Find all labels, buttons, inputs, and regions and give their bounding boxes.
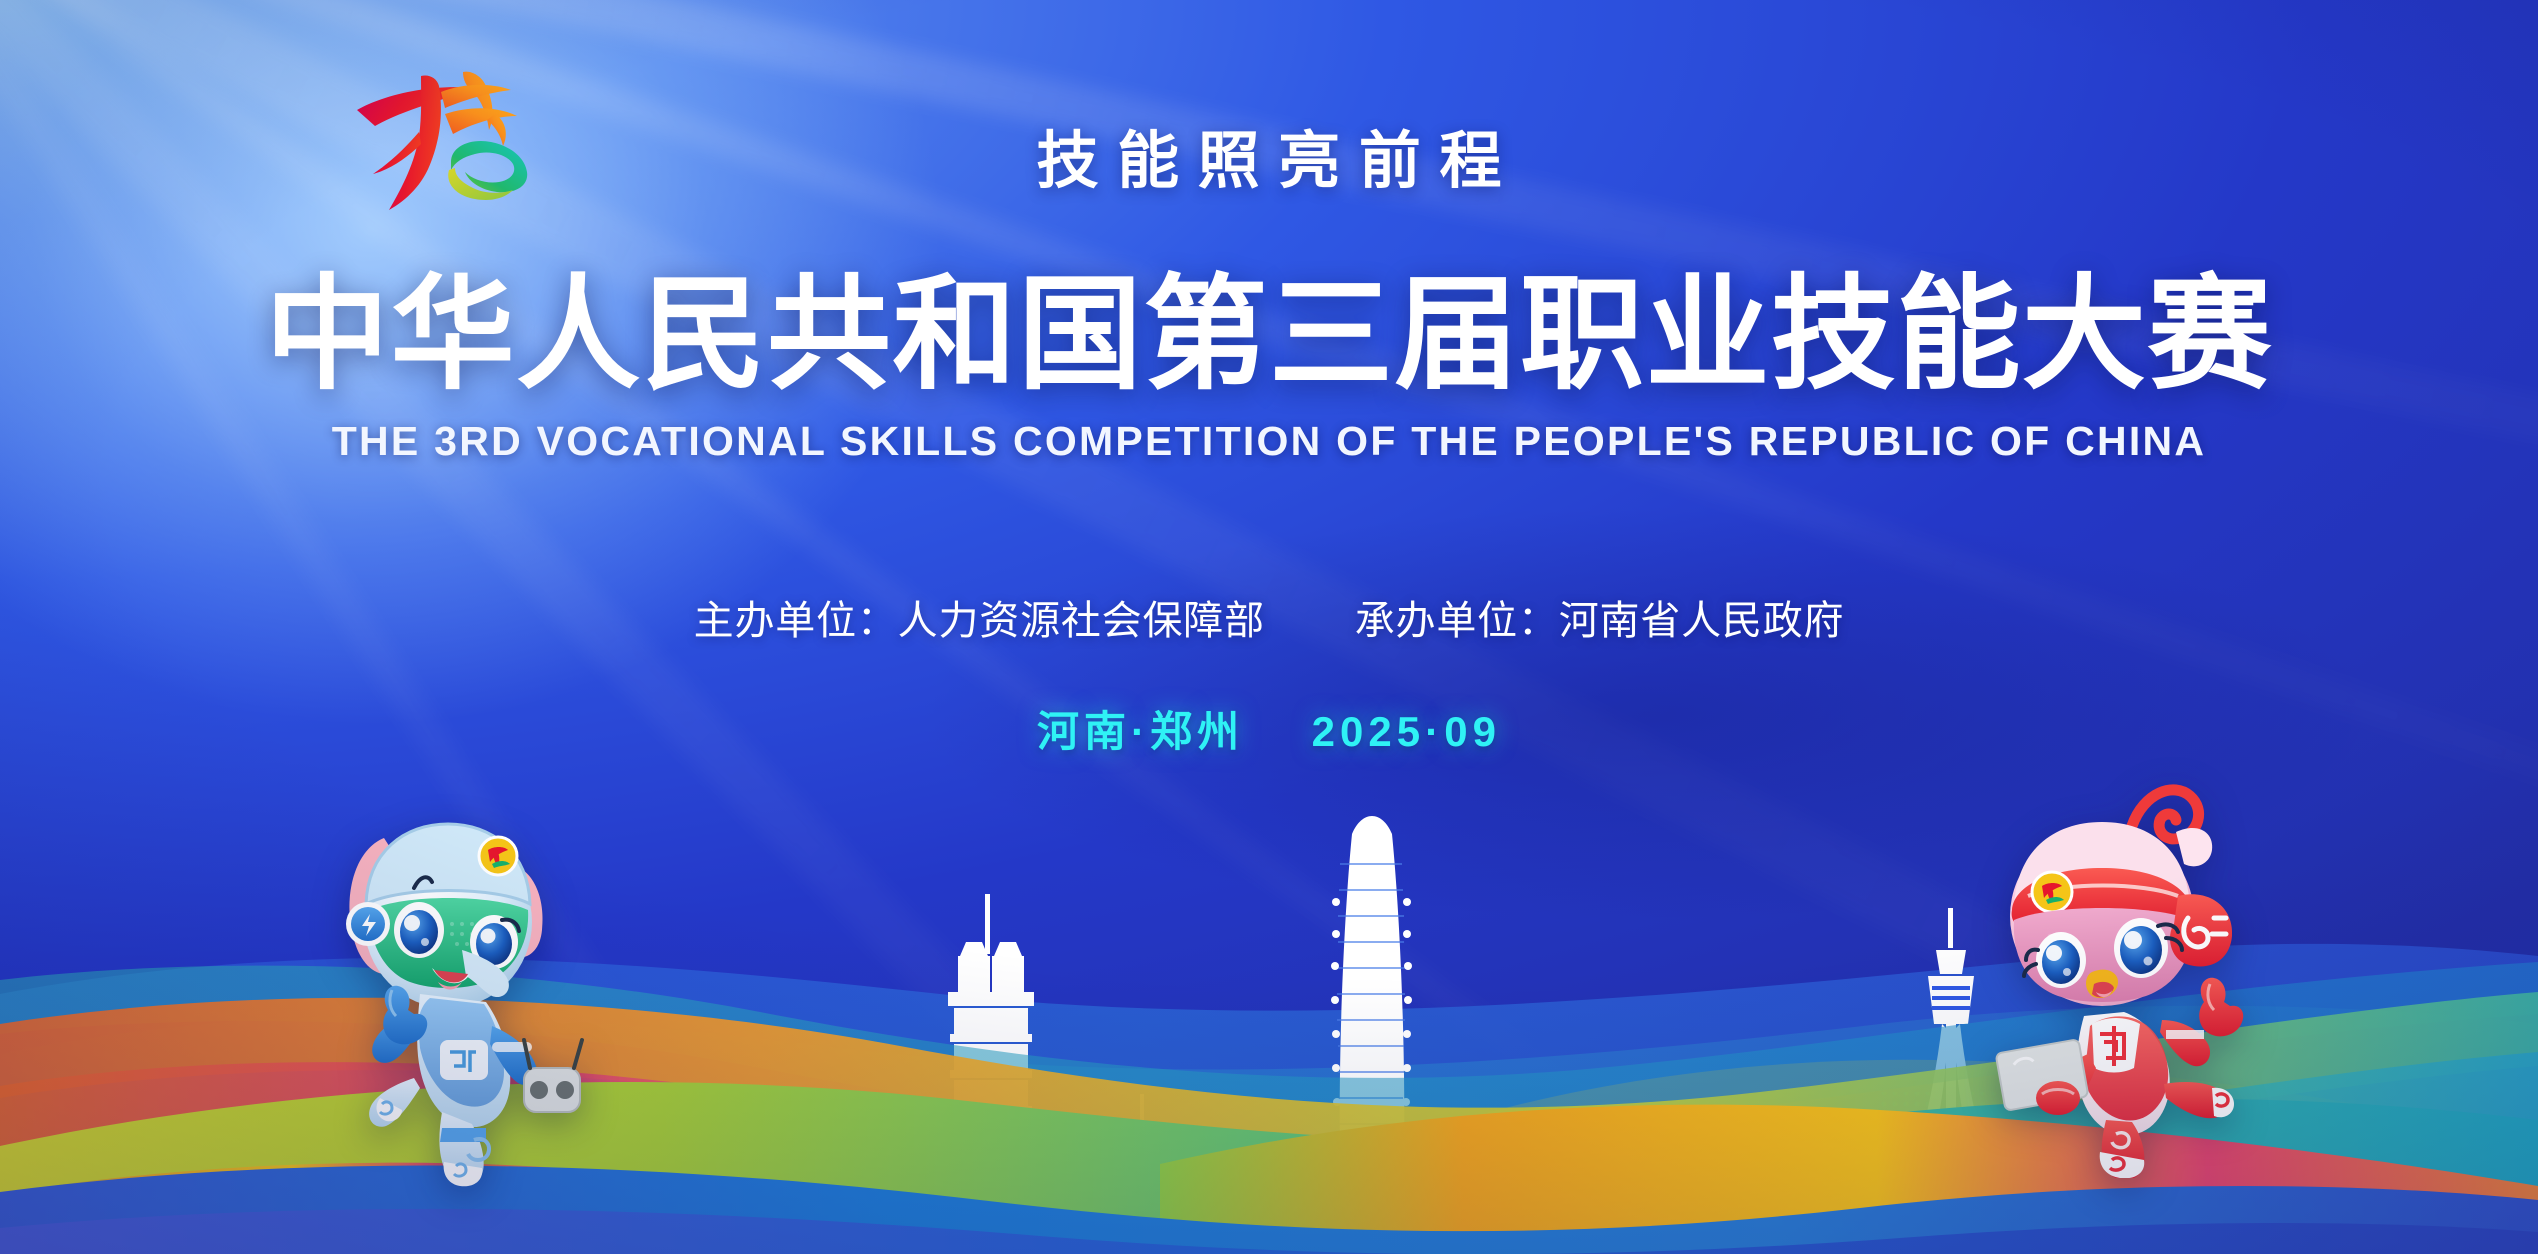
bird-mascot-icon (1966, 768, 2266, 1178)
poster-canvas: 技能照亮前程 中华人民共和国第三届职业技能大赛 THE 3RD VOCATION… (0, 0, 2538, 1254)
host-label: 承办单位：河南省人民政府 (1355, 599, 1845, 643)
organizer-label: 主办单位：人力资源社会保障部 (694, 599, 1265, 643)
english-subtitle: THE 3RD VOCATIONAL SKILLS COMPETITION OF… (0, 418, 2538, 465)
elephant-mascot-icon (296, 790, 586, 1190)
slogan-text: 技能照亮前程 (0, 110, 2538, 200)
organizer-line: 主办单位：人力资源社会保障部 承办单位：河南省人民政府 (0, 588, 2538, 646)
page-title: 中华人民共和国第三届职业技能大赛 (0, 272, 2538, 398)
